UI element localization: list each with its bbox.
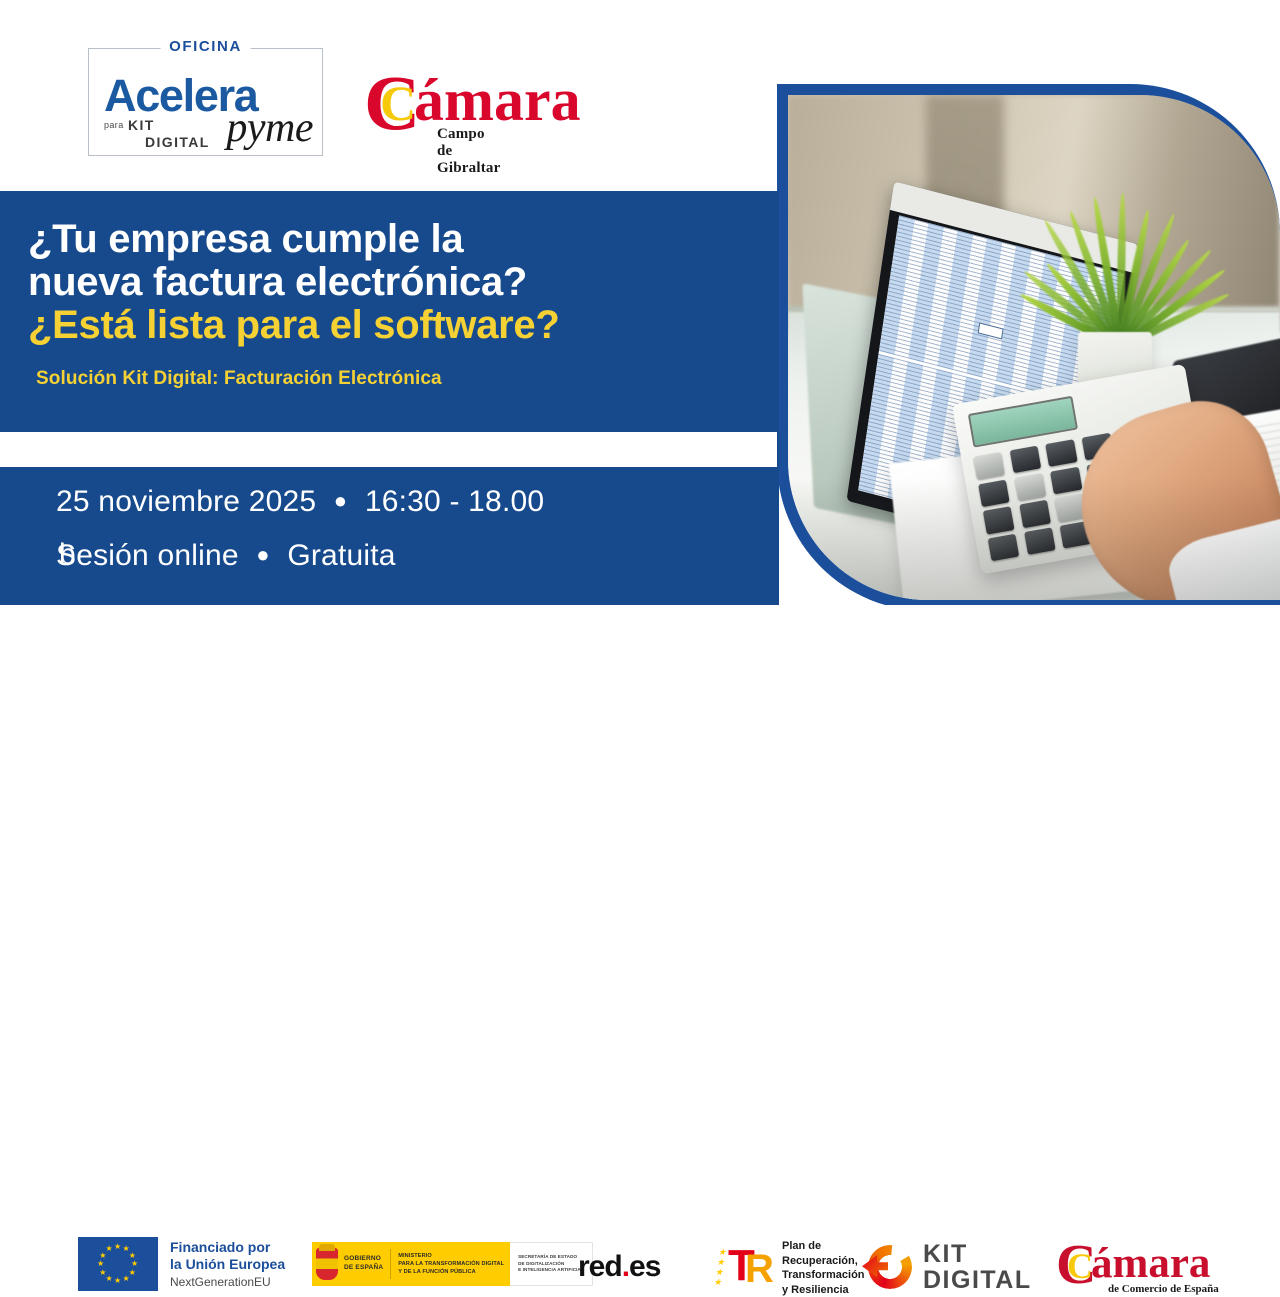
headline-block: ¿Tu empresa cumple la nueva factura elec… bbox=[28, 218, 758, 346]
plan-line-3: Transformación bbox=[782, 1268, 865, 1283]
logo-camara-de-comercio-de-espana: C C ámara de Comercio de España bbox=[1056, 1239, 1236, 1291]
logo-kit-digital: KIT DIGITAL bbox=[862, 1241, 1032, 1294]
event-format: Sesión online bbox=[56, 539, 239, 572]
eu-line-3: NextGenerationEU bbox=[170, 1275, 285, 1289]
secretaria-line-3: E INTELIGENCIA ARTIFICIAL bbox=[518, 1267, 584, 1274]
hero-photo-frame bbox=[777, 84, 1280, 611]
kit-label: KIT bbox=[923, 1241, 1032, 1267]
bullet-separator-icon: ● bbox=[325, 490, 357, 512]
camara-wordmark: ámara bbox=[414, 70, 581, 130]
redes-tld: es bbox=[629, 1250, 660, 1283]
acelera-digital-label: DIGITAL bbox=[145, 134, 210, 150]
logo-financiado-union-europea: ★★★★★★★★★★★★ Financiado por la Unión Eur… bbox=[78, 1237, 285, 1291]
calculator-display bbox=[968, 396, 1079, 448]
de-espana-label: DE ESPAÑA bbox=[344, 1264, 383, 1273]
event-format-price-line: b Sesión online ● Gratuita bbox=[56, 541, 544, 571]
acelera-oficina-label: OFICINA bbox=[160, 38, 251, 55]
ministerio-line-2: PARA LA TRANSFORMACIÓN DIGITAL bbox=[398, 1260, 504, 1268]
logo-plan-recuperacion: ★★★★ T R Plan de Recuperación, Transform… bbox=[712, 1239, 865, 1297]
secretaria-line-2: DE DIGITALIZACIÓN bbox=[518, 1261, 584, 1268]
headline-line-2: nueva factura electrónica? bbox=[28, 261, 758, 304]
gobierno-label: GOBIERNO bbox=[344, 1255, 383, 1264]
plan-line-1: Plan de bbox=[782, 1239, 865, 1254]
logo-redes: red.es bbox=[578, 1250, 660, 1284]
tr-emblem-icon: ★★★★ T R bbox=[712, 1242, 774, 1294]
secretaria-line-1: SECRETARÍA DE ESTADO bbox=[518, 1254, 584, 1261]
tr-letter-r: R bbox=[745, 1249, 774, 1289]
overlapping-glyph-artifact: b bbox=[59, 540, 76, 570]
acelera-para-label: para bbox=[104, 120, 124, 130]
promo-banner: OFICINA Acelera pyme para KIT DIGITAL C … bbox=[0, 0, 1280, 720]
logo-oficina-acelera-pyme: OFICINA Acelera pyme para KIT DIGITAL bbox=[88, 48, 323, 156]
pyme-wordmark: pyme bbox=[226, 104, 313, 152]
plan-line-2: Recuperación, bbox=[782, 1254, 865, 1269]
redes-dot-icon: . bbox=[622, 1250, 629, 1283]
logo-gobierno-de-espana: GOBIERNO DE ESPAÑA MINISTERIO PARA LA TR… bbox=[312, 1242, 593, 1286]
camara-c-inner: C bbox=[380, 78, 416, 128]
headline-line-1: ¿Tu empresa cumple la bbox=[28, 218, 758, 261]
footer-logo-strip: ★★★★★★★★★★★★ Financiado por la Unión Eur… bbox=[0, 605, 1280, 720]
eu-flag-icon: ★★★★★★★★★★★★ bbox=[78, 1237, 158, 1291]
camara-subtitle: Campo de Gibraltar bbox=[437, 126, 500, 177]
event-price: Gratuita bbox=[287, 539, 395, 572]
event-time: 16:30 - 18.00 bbox=[365, 485, 544, 518]
panel-white-separator bbox=[0, 432, 777, 467]
hero-photo-desk-calculator bbox=[788, 95, 1280, 600]
acelera-kit-label: KIT bbox=[128, 117, 155, 133]
bullet-separator-icon-2: ● bbox=[247, 544, 279, 566]
kit-digital-mark-icon bbox=[862, 1243, 914, 1291]
camara-espana-c-inner: C bbox=[1067, 1248, 1093, 1284]
eu-line-1: Financiado por bbox=[170, 1239, 285, 1256]
ministerio-line-3: Y DE LA FUNCIÓN PÚBLICA bbox=[398, 1268, 504, 1276]
event-date: 25 noviembre 2025 bbox=[56, 485, 316, 518]
gobierno-yellow-block: GOBIERNO DE ESPAÑA MINISTERIO PARA LA TR… bbox=[312, 1242, 510, 1286]
headline-line-3: ¿Está lista para el software? bbox=[28, 304, 758, 347]
hero-subtitle: Solución Kit Digital: Facturación Electr… bbox=[36, 368, 442, 390]
event-info-block: 25 noviembre 2025 ● 16:30 - 18.00 b Sesi… bbox=[56, 487, 544, 595]
plan-line-4: y Resiliencia bbox=[782, 1283, 865, 1297]
redes-name: red bbox=[578, 1250, 622, 1283]
digital-label: DIGITAL bbox=[923, 1267, 1032, 1293]
camara-espana-subtitle: de Comercio de España bbox=[1108, 1283, 1219, 1295]
spain-coat-of-arms-icon bbox=[316, 1248, 338, 1280]
event-date-time-line: 25 noviembre 2025 ● 16:30 - 18.00 bbox=[56, 487, 544, 517]
plant-leaves bbox=[1064, 196, 1177, 348]
eu-line-2: la Unión Europea bbox=[170, 1256, 285, 1273]
ministerio-line-1: MINISTERIO bbox=[398, 1252, 504, 1260]
camara-espana-wordmark: ámara bbox=[1091, 1242, 1210, 1285]
